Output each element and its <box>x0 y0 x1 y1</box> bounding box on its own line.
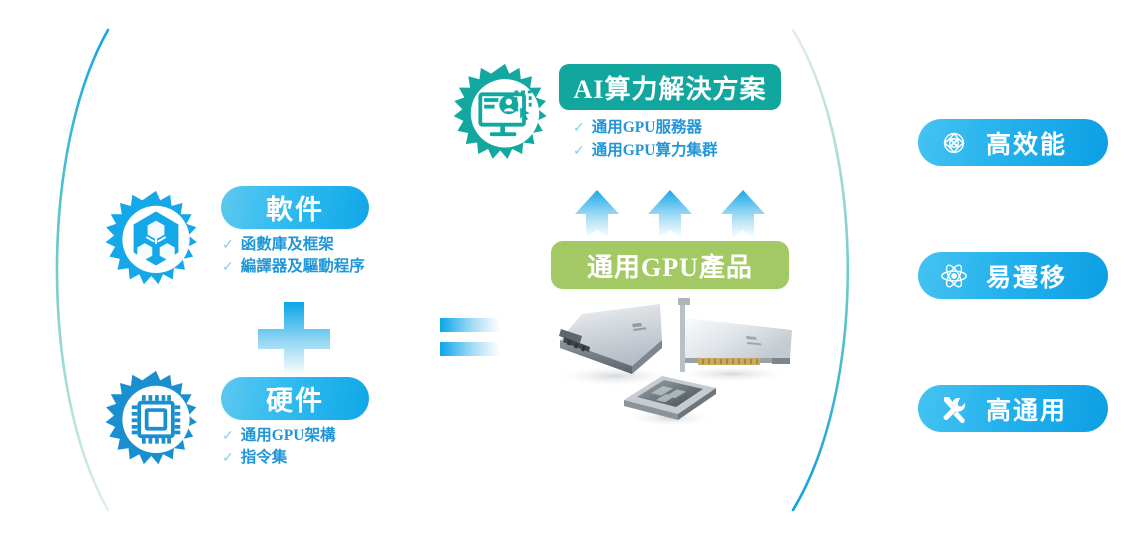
arrow-up-icon <box>721 190 765 238</box>
gear-chip-icon <box>100 369 212 481</box>
gpu-product-pill-label: 通用GPU產品 <box>587 247 753 284</box>
arc-right <box>793 30 848 510</box>
gpu-card-bracket-icon <box>672 298 792 383</box>
hardware-pill-label: 硬件 <box>266 379 324 418</box>
list-item: ✓ 通用GPU算力集群 <box>573 140 717 163</box>
badge-high-performance[interactable]: 高效能 <box>918 119 1108 166</box>
badge-easy-migration[interactable]: 易遷移 <box>918 252 1108 299</box>
list-item-label: 函數庫及框架 <box>241 234 334 255</box>
diagram-canvas: 軟件 ✓ 函數庫及框架 ✓ 編譯器及驅動程序 <box>0 0 1127 534</box>
arrow-up-icon <box>648 190 692 238</box>
badge-label: 高通用 <box>986 391 1067 427</box>
atom-icon <box>932 261 976 291</box>
list-item-label: 編譯器及驅動程序 <box>241 256 365 277</box>
check-icon: ✓ <box>573 141 585 163</box>
list-item-label: 通用GPU架構 <box>241 425 336 446</box>
arrow-up-icon-group <box>575 190 765 238</box>
list-item: ✓ 函數庫及框架 <box>222 234 365 256</box>
list-item: ✓ 指令集 <box>222 447 335 469</box>
list-item-label: 通用GPU算力集群 <box>592 140 718 162</box>
list-item-label: 指令集 <box>241 447 288 468</box>
ai-solution-bullets: ✓ 通用GPU服務器 ✓ 通用GPU算力集群 <box>573 117 717 163</box>
list-item: ✓ 通用GPU架構 <box>222 425 335 447</box>
ai-solution-pill-label: AI算力解決方案 <box>574 69 767 106</box>
gear-monitor-user-icon <box>448 62 562 176</box>
check-icon: ✓ <box>573 118 585 140</box>
list-item: ✓ 通用GPU服務器 <box>573 117 717 140</box>
hardware-bullets: ✓ 通用GPU架構 ✓ 指令集 <box>222 425 335 469</box>
gpu-product-images <box>520 296 820 436</box>
badge-label: 高效能 <box>986 125 1067 161</box>
plus-operator-icon <box>258 302 330 376</box>
gear-cubes-icon <box>100 189 212 301</box>
list-item: ✓ 編譯器及驅動程序 <box>222 256 365 278</box>
hardware-pill[interactable]: 硬件 <box>221 377 369 420</box>
gem-flower-icon <box>932 128 976 158</box>
equals-operator-icon <box>440 316 500 360</box>
check-icon: ✓ <box>222 448 234 469</box>
check-icon: ✓ <box>222 235 234 256</box>
badge-high-versatility[interactable]: 高通用 <box>918 385 1108 432</box>
arrow-up-icon <box>575 190 619 238</box>
list-item-label: 通用GPU服務器 <box>592 117 702 139</box>
software-pill-label: 軟件 <box>266 188 324 227</box>
gpu-product-pill[interactable]: 通用GPU產品 <box>551 241 789 289</box>
software-pill[interactable]: 軟件 <box>221 186 369 229</box>
check-icon: ✓ <box>222 426 234 447</box>
gpu-card-silver-icon <box>553 304 677 387</box>
software-bullets: ✓ 函數庫及框架 ✓ 編譯器及驅動程序 <box>222 234 365 278</box>
check-icon: ✓ <box>222 257 234 278</box>
wrench-screwdriver-icon <box>932 393 976 425</box>
ai-solution-pill[interactable]: AI算力解決方案 <box>559 64 781 110</box>
badge-label: 易遷移 <box>986 258 1067 294</box>
